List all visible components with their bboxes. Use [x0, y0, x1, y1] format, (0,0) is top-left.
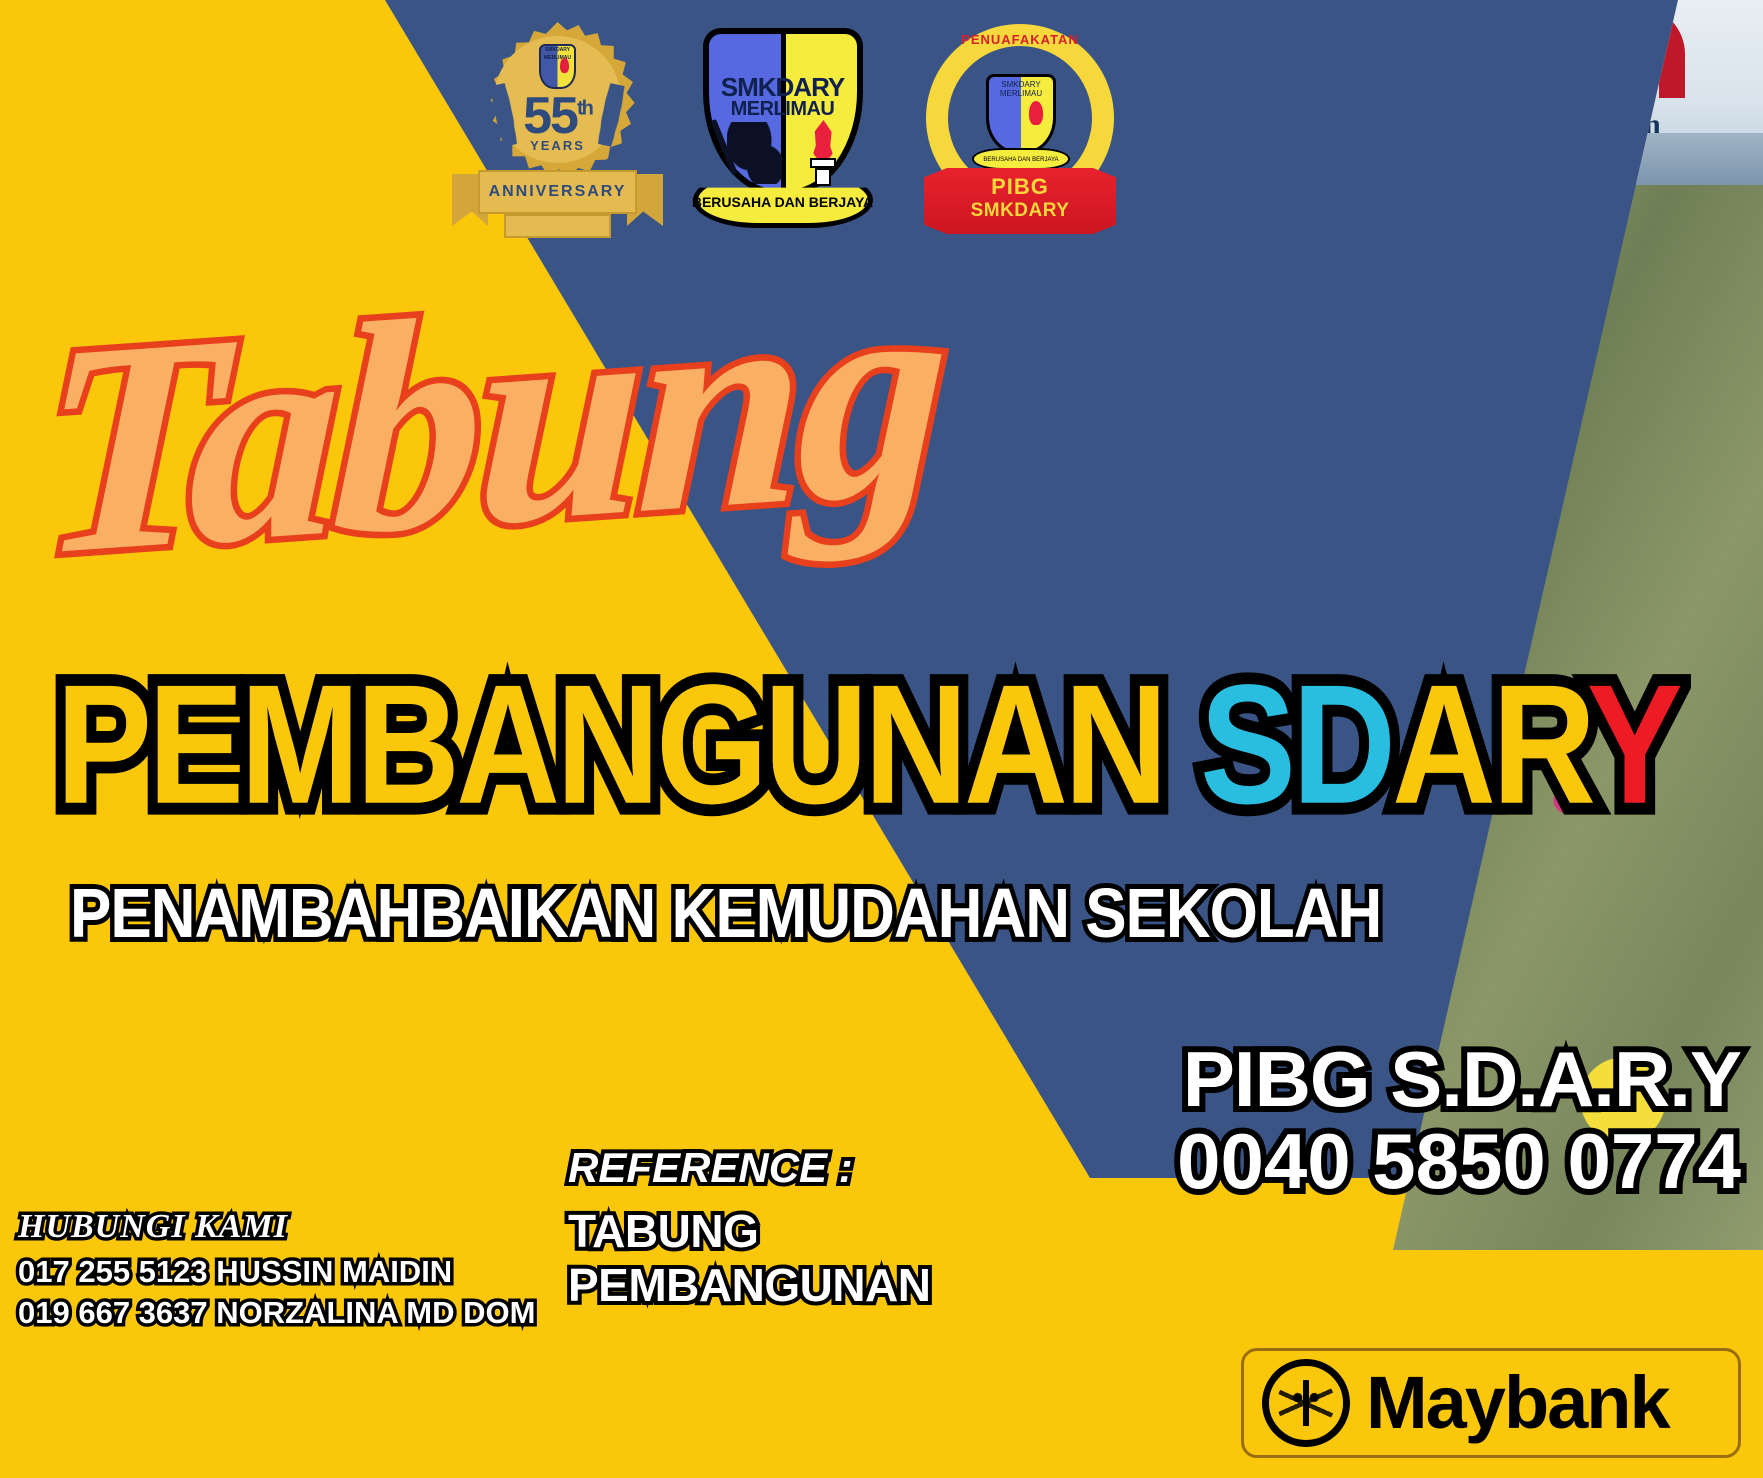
reference-label: REFERENCE :	[568, 1144, 931, 1192]
hero-subtitle: PENAMBAHBAIKAN KEMUDAHAN SEKOLAH	[70, 880, 1381, 949]
pibg-ribbon-line1: PIBG	[920, 174, 1120, 200]
crest-motto-text: BERUSAHA DAN BERJAYA	[685, 194, 880, 210]
payment-block: PIBG S.D.A.R.Y 0040 5850 0774	[1177, 1040, 1741, 1201]
contact-row-1: 017 255 5123 HUSSIN MAIDIN	[18, 1252, 535, 1293]
anniversary-badge-logo: SMKDARY MERLIMAU 55th YEARS ANNIVERSARY	[470, 22, 645, 240]
badge-mini-flame-icon	[560, 58, 569, 73]
contact-block: HUBUNGI KAMI 017 255 5123 HUSSIN MAIDIN …	[18, 1208, 535, 1334]
headline-part-sd: SD	[1200, 649, 1392, 839]
school-crest-logo: SMKDARY MERLIMAU BERUSAHA DAN BERJAYA	[685, 22, 880, 234]
contact-heading: HUBUNGI KAMI	[18, 1208, 535, 1246]
anniversary-ribbon-label: ANNIVERSARY	[478, 170, 637, 214]
pibg-arc-text: PENUAFAKATAN	[920, 32, 1120, 47]
poster-canvas: inSch SMKDARY MERLIMAU 55th YEARS ANNIVE…	[0, 0, 1763, 1478]
anniversary-number-value: 55	[523, 87, 577, 145]
anniversary-bottom-ribbon	[504, 214, 611, 238]
reference-block: REFERENCE : TABUNG PEMBANGUNAN	[568, 1144, 931, 1313]
headline-part-pembangunan: PEMBANGUNAN	[56, 649, 1200, 839]
crest-title-line2: MERLIMAU	[685, 98, 880, 121]
anniversary-number: 55th	[470, 86, 645, 146]
headline-part-ar: AR	[1392, 649, 1587, 839]
account-number: 0040 5850 0774	[1177, 1122, 1741, 1202]
pibg-ribbon-line2: SMKDARY	[920, 200, 1120, 222]
torch-head	[810, 158, 836, 168]
anniversary-years-label: YEARS	[470, 138, 645, 153]
maybank-tiger-icon	[1262, 1359, 1350, 1447]
pibg-mini-motto: BERUSAHA DAN BERJAYA	[972, 148, 1070, 170]
torch-stem	[815, 168, 831, 186]
anniversary-ordinal: th	[577, 98, 592, 120]
pibg-mini-flame-icon	[1029, 101, 1043, 125]
badge-mini-crest-line1: SMKDARY	[541, 48, 574, 54]
reference-value-line2: PEMBANGUNAN	[568, 1258, 931, 1312]
badge-mini-crest-line2: MERLIMAU	[541, 56, 574, 62]
maybank-logo-badge: Maybank	[1241, 1348, 1741, 1458]
pibg-mini-crest-icon: SMKDARY MERLIMAU	[986, 74, 1056, 154]
account-name: PIBG S.D.A.R.Y	[1177, 1040, 1741, 1120]
hero-headline: PEMBANGUNAN SDARY	[56, 660, 1679, 830]
pibg-mini-crest-line1: SMKDARY	[1001, 80, 1040, 89]
logo-row: SMKDARY MERLIMAU 55th YEARS ANNIVERSARY …	[470, 22, 1120, 242]
contact-row-2: 019 667 3637 NORZALINA MD DOM	[18, 1293, 535, 1334]
pibg-mini-crest-line2: MERLIMAU	[1000, 89, 1042, 98]
maybank-wordmark: Maybank	[1366, 1366, 1669, 1440]
pibg-crest-logo: PENUAFAKATAN SMKDARY MERLIMAU BERUSAHA D…	[920, 22, 1120, 242]
crest-torch-icon	[808, 120, 838, 186]
hero-script-word: Tabung	[36, 238, 948, 602]
reference-value-line1: TABUNG	[568, 1204, 931, 1258]
badge-mini-crest-icon: SMKDARY MERLIMAU	[539, 44, 576, 89]
torch-flame-icon	[811, 120, 835, 160]
crest-map-icon	[727, 122, 782, 184]
headline-part-y: Y	[1587, 649, 1679, 839]
